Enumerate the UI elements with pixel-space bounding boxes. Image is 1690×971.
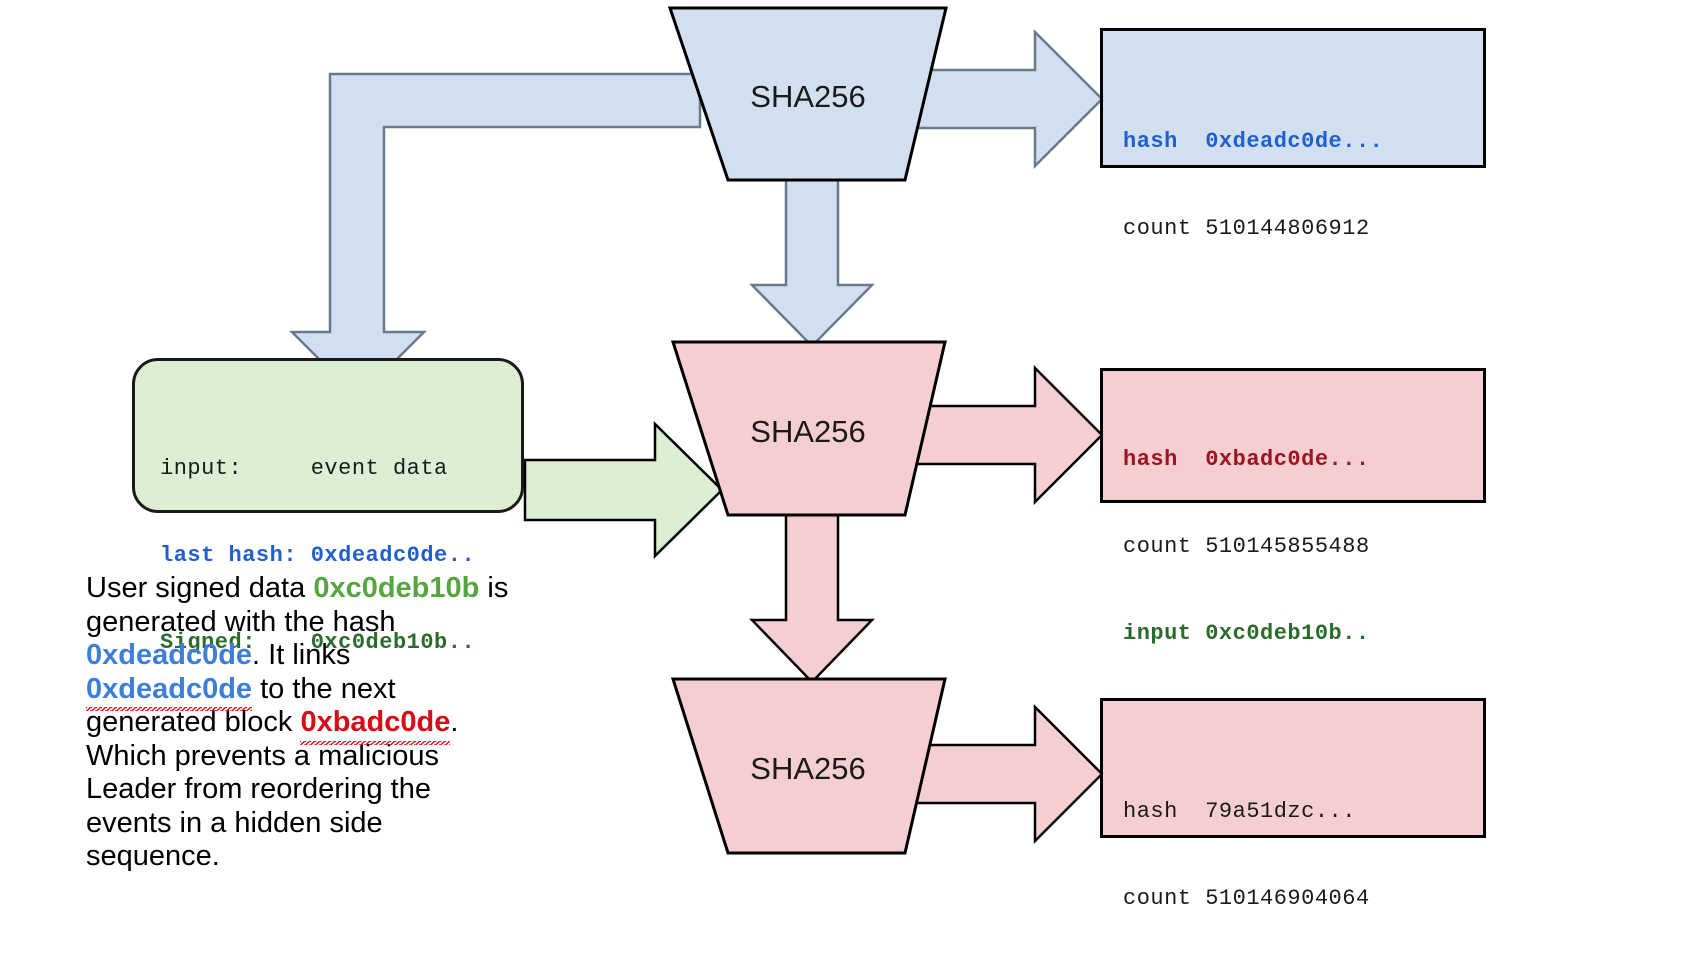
output-box-middle-line-0: hash 0xbadc0de...: [1123, 445, 1483, 474]
arrow-top-to-middle: [752, 178, 872, 346]
caption-segment-1-signed-data: 0xc0deb10b: [313, 572, 479, 604]
signed-input-box: input: event data last hash: 0xdeadc0de.…: [132, 358, 524, 513]
caption-segment-3-hash: 0xdeadc0de: [86, 639, 252, 671]
output-box-middle-line-2: input 0xc0deb10b..: [1123, 619, 1483, 648]
output-box-top: hash 0xdeadc0de... count 510144806912: [1100, 28, 1486, 168]
output-box-bottom: hash 79a51dzc... count 510146904064: [1100, 698, 1486, 838]
caption-segment-7-block-misspelled: 0xbadc0de: [300, 706, 450, 740]
signed-input-row-input: input: event data: [160, 454, 521, 483]
output-box-top-line-0: hash 0xdeadc0de...: [1123, 127, 1483, 156]
caption-paragraph: User signed data 0xc0deb10b is generated…: [86, 572, 516, 874]
output-box-bottom-line-0: hash 79a51dzc...: [1123, 797, 1483, 826]
sha256-label-middle: SHA256: [750, 414, 865, 449]
arrow-input-to-middle: [525, 424, 722, 556]
sha256-label-top: SHA256: [750, 79, 865, 114]
signed-input-row-last-hash: last hash: 0xdeadc0de..: [160, 541, 521, 570]
sha256-label-bottom: SHA256: [750, 751, 865, 786]
caption-segment-4: . It links: [252, 639, 350, 671]
caption-segment-0: User signed data: [86, 572, 313, 604]
output-box-middle: hash 0xbadc0de... count 510145855488 inp…: [1100, 368, 1486, 503]
caption-segment-5-hash-misspelled: 0xdeadc0de: [86, 673, 252, 707]
arrow-feedback-hash-to-input: [292, 74, 700, 398]
output-box-top-line-1: count 510144806912: [1123, 214, 1483, 243]
diagram-canvas: SHA256 SHA256 SHA256 hash 0xdeadc0de... …: [0, 0, 1690, 950]
arrow-middle-to-bottom: [752, 514, 872, 682]
output-box-bottom-line-1: count 510146904064: [1123, 884, 1483, 913]
output-box-middle-line-1: count 510145855488: [1123, 532, 1483, 561]
